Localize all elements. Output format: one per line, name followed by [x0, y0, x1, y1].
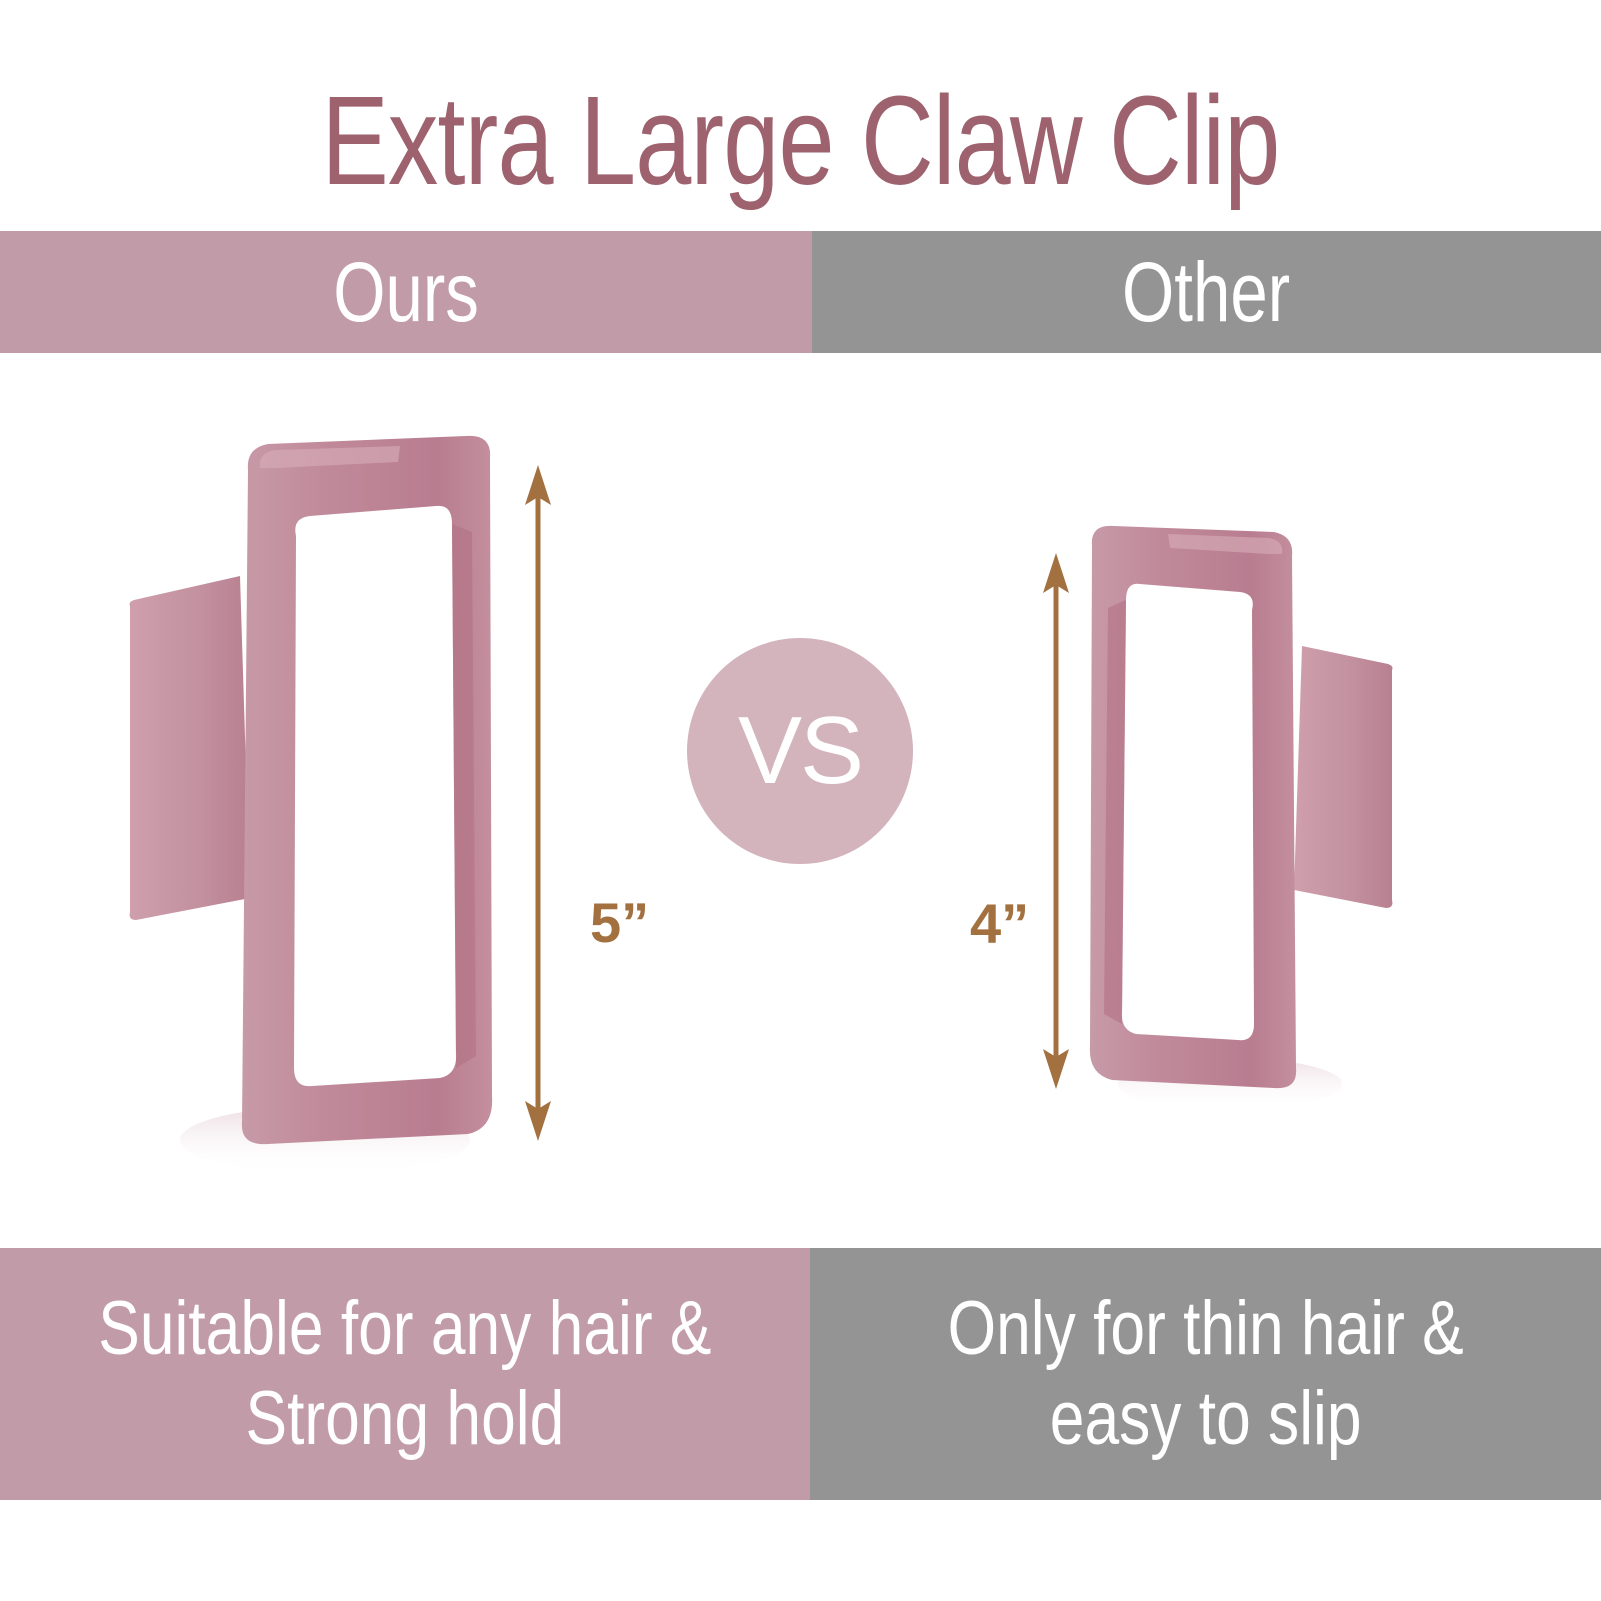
caption-column-ours: Suitable for any hair & Strong hold: [0, 1248, 810, 1500]
clip-side-tab-other: [1294, 646, 1393, 908]
header-column-ours: Ours: [0, 231, 812, 353]
claw-clip-ours-image: [100, 428, 520, 1188]
claw-clip-other-image: [1060, 518, 1420, 1118]
header-label-ours: Ours: [333, 248, 479, 336]
vs-label: VS: [738, 703, 862, 799]
clip-side-tab-ours: [130, 576, 251, 920]
clip-inner-rim-ours: [452, 524, 476, 1068]
caption-text-ours: Suitable for any hair & Strong hold: [98, 1284, 711, 1464]
caption-text-other: Only for thin hair & easy to slip: [947, 1284, 1463, 1464]
comparison-stage: 5” VS 4”: [0, 353, 1601, 1248]
measure-label-other: 4”: [970, 896, 1029, 952]
caption-column-other: Only for thin hair & easy to slip: [810, 1248, 1601, 1500]
measurement-ours: 5”: [500, 463, 700, 1143]
header-label-other: Other: [1122, 248, 1290, 336]
product-comparison-infographic: Extra Large Claw Clip Ours Other: [0, 0, 1601, 1601]
vs-badge: VS: [687, 638, 913, 864]
page-title: Extra Large Claw Clip: [160, 66, 1441, 216]
header-column-other: Other: [812, 231, 1601, 353]
measure-label-ours: 5”: [590, 895, 649, 951]
